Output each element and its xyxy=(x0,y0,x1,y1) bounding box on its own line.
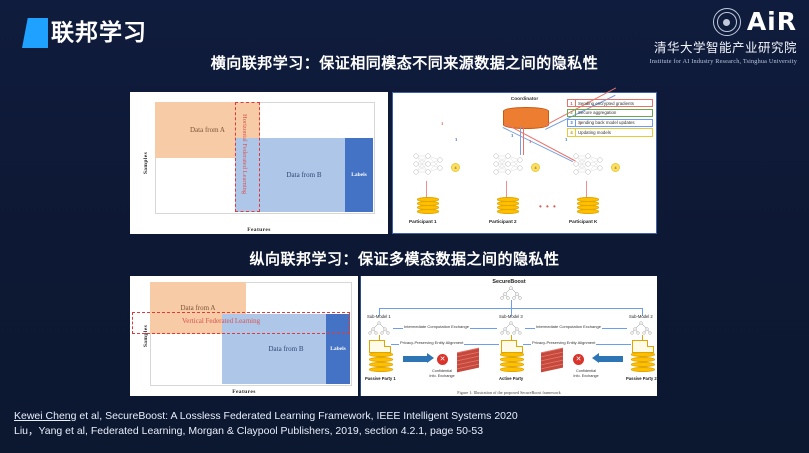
tree-icon-sub1 xyxy=(367,321,391,335)
block-labels: Labels xyxy=(345,138,373,212)
tree-icon-sub2 xyxy=(629,321,653,335)
party-label-passive2: Passive Party 2 xyxy=(626,376,657,381)
matrix-x-axis-label: Features xyxy=(130,227,388,233)
slide-root: 联邦学习 AiR 清华大学智能产业研究院 Institute for AI In… xyxy=(0,0,809,453)
org-acronym: AiR xyxy=(747,9,797,35)
brand-logo: 联邦学习 xyxy=(22,18,147,48)
citation-rest-2: Liu，Yang et al, Federated Learning, Morg… xyxy=(14,425,483,437)
flow-number-3a: 3 xyxy=(455,137,457,142)
tree-icon-root xyxy=(499,286,523,300)
section-heading-horizontal: 横向联邦学习：保证相同模态不同来源数据之间的隐私性 xyxy=(0,52,809,73)
sub-model-label-2: Sub-Model 2 xyxy=(629,314,653,319)
legend-item-1: 1 Sending encrypted gradients xyxy=(567,99,653,107)
neural-net-icon-pk xyxy=(571,151,605,181)
arrow-exchange-right xyxy=(599,356,623,362)
section-heading-vertical: 纵向联邦学习：保证多模态数据之间的隐私性 xyxy=(0,248,809,269)
legend-item-3: 3 Sending back model updates xyxy=(567,119,653,127)
entity-alignment-label-left: Privacy-Preserving Entity Alignment xyxy=(399,340,464,345)
legend-item-4: 4 Updating models xyxy=(567,128,653,136)
tree-icon-sub3 xyxy=(499,321,523,335)
citation-author-link[interactable]: Kewei Cheng xyxy=(14,410,76,422)
badge-updating-models-p2: 4 xyxy=(531,163,540,172)
citation-rest-1: et al, SecureBoost: A Lossless Federated… xyxy=(76,410,517,422)
participant-label-k: Participant K xyxy=(569,219,597,224)
brand-mark-icon xyxy=(22,18,48,48)
legend-text-2: Secure aggregation xyxy=(576,110,652,116)
vertical-matrix-panel: Samples Features Data from A Data from B… xyxy=(130,276,358,396)
sub-model-label-3: Sub-Model 3 xyxy=(499,314,523,319)
badge-updating-models-pk: 4 xyxy=(611,163,620,172)
network-legend: 1 Sending encrypted gradients 2 Secure a… xyxy=(567,99,653,138)
citation-line-1: Kewei Cheng et al, SecureBoost: A Lossle… xyxy=(14,409,518,424)
firewall-icon-right xyxy=(541,348,563,373)
participant-label-1: Participant 1 xyxy=(409,219,437,224)
federated-network-panel: Coordinator 1 3 3 1 1 3 xyxy=(392,92,657,234)
blocked-icon-left: ✕ xyxy=(437,354,448,365)
legend-item-2: 2 Secure aggregation xyxy=(567,109,653,117)
matrix-x-axis-label-vertical: Features xyxy=(130,389,358,395)
legend-num-1: 1 xyxy=(568,100,576,106)
legend-text-4: Updating models xyxy=(576,129,652,135)
intermediate-exchange-label-left: Intermediate Computation Exchange xyxy=(403,324,470,329)
dashed-region-label: Horizontal Federated Learning xyxy=(241,114,248,194)
database-icon-active xyxy=(500,352,524,374)
legend-text-3: Sending back model updates xyxy=(576,120,652,126)
entity-alignment-label-right: Privacy-Preserving Entity Alignment xyxy=(531,340,596,345)
secureboost-title: SecureBoost xyxy=(361,279,657,285)
secureboost-panel: SecureBoost Sub-Model 1 Sub-Model 3 xyxy=(360,276,657,396)
party-label-passive1: Passive Party 1 xyxy=(365,376,396,381)
dashed-region-label-vertical: Vertical Federated Learning xyxy=(182,317,260,325)
blocked-icon-right: ✕ xyxy=(573,354,584,365)
bus-vertical-root xyxy=(511,300,512,308)
participant-label-2: Participant 2 xyxy=(489,219,517,224)
legend-text-1: Sending encrypted gradients xyxy=(576,100,652,106)
database-icon-p2 xyxy=(497,197,519,216)
database-icon-pk xyxy=(577,197,599,216)
flow-number-3b: 3 xyxy=(511,133,513,138)
participants-ellipsis: • • • xyxy=(539,203,557,211)
confidential-exchange-label-right: Confidential Info. Exchange xyxy=(561,369,611,378)
badge-updating-models-p1: 4 xyxy=(451,163,460,172)
matrix-y-axis-label: Samples xyxy=(143,152,149,174)
figure-caption: Figure 1: Illustration of the proposed S… xyxy=(361,390,657,395)
legend-num-2: 2 xyxy=(568,110,576,116)
sub-model-label-1: Sub-Model 1 xyxy=(367,314,391,319)
arrow-exchange-left xyxy=(403,356,427,362)
confidential-exchange-label-left: Confidential Info. Exchange xyxy=(417,369,467,378)
party-label-active: Active Party xyxy=(499,376,523,381)
legend-num-4: 4 xyxy=(568,129,576,135)
database-icon-passive1 xyxy=(369,352,393,374)
brand-title: 联邦学习 xyxy=(51,18,147,48)
database-icon-p1 xyxy=(417,197,439,216)
database-icon-passive2 xyxy=(631,352,655,374)
horizontal-matrix-panel: Samples Features Data from A Data from B… xyxy=(130,92,388,234)
neural-net-icon-p2 xyxy=(491,151,525,181)
legend-num-3: 3 xyxy=(568,120,576,126)
tsinghua-seal-icon xyxy=(713,8,741,36)
flow-number-1b: 1 xyxy=(529,139,531,144)
citations: Kewei Cheng et al, SecureBoost: A Lossle… xyxy=(14,409,518,439)
citation-line-2: Liu，Yang et al, Federated Learning, Morg… xyxy=(14,424,518,439)
neural-net-icon-p1 xyxy=(411,151,445,181)
flow-number-1a: 1 xyxy=(441,121,443,126)
intermediate-exchange-label-right: Intermediate Computation Exchange xyxy=(535,324,602,329)
